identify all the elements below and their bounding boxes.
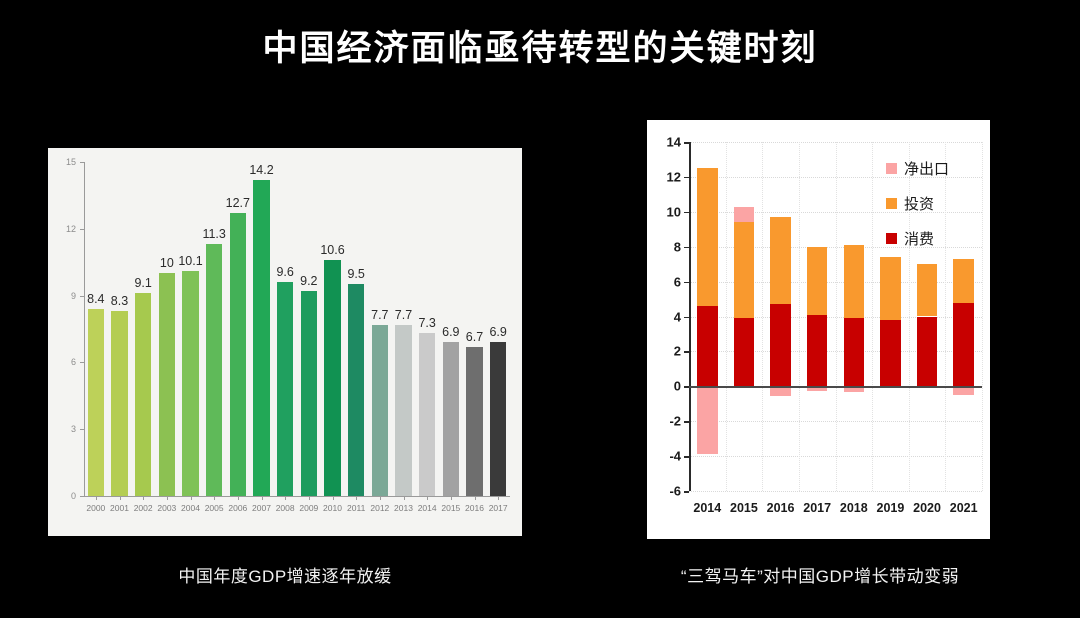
right-chart-segment-net-exports [734,207,755,222]
gdp-contribution-stacked-chart: -6-4-20246810121420142015201620172018201… [647,120,990,539]
left-chart-x-tick [356,496,357,500]
left-chart-bar-value-label: 8.3 [100,294,140,308]
left-chart-bar [206,244,222,496]
right-chart-gridline [689,491,982,492]
right-chart-caption: “三驾马车”对中国GDP增长带动变弱 [620,562,1020,587]
left-chart-x-tick [475,496,476,500]
left-chart-x-tick [427,496,428,500]
left-chart-x-tick [238,496,239,500]
left-chart-x-axis [84,496,510,497]
right-chart-legend-label: 消费 [904,228,934,249]
right-chart-segment-investment [697,168,718,306]
right-chart-panel: -6-4-20246810121420142015201620172018201… [647,120,990,539]
right-chart-y-tick [684,247,689,249]
left-chart-bar [159,273,175,496]
right-chart-y-tick [684,282,689,284]
left-chart-bar [253,180,269,496]
left-chart-y-tick [80,496,84,497]
left-chart-bar-value-label: 10.1 [171,254,211,268]
left-chart-x-tick [262,496,263,500]
left-chart-x-tick [120,496,121,500]
left-chart-bar [443,342,459,496]
right-chart-y-tick-label: -4 [655,449,681,464]
right-chart-vertical-gridline [726,142,727,491]
right-chart-y-tick [684,317,689,319]
slide-root: 中国经济面临亟待转型的关键时刻 036912158.420008.320019.… [0,0,1080,618]
right-chart-segment-investment [880,257,901,320]
right-chart-y-tick [684,212,689,214]
right-chart-legend-label: 净出口 [904,158,949,179]
left-chart-bar-value-label: 12.7 [218,196,258,210]
left-chart-bar [111,311,127,496]
left-chart-bar [135,293,151,496]
legend-swatch-icon [886,198,897,209]
right-chart-x-tick-label: 2021 [942,501,986,515]
right-chart-segment-consumption [734,318,755,386]
left-chart-x-tick [380,496,381,500]
left-chart-bar [419,333,435,496]
left-chart-y-tick [80,229,84,230]
right-chart-y-tick [684,142,689,144]
right-chart-segment-investment [807,247,828,315]
left-chart-y-tick-label: 3 [56,424,76,434]
right-chart-vertical-gridline [945,142,946,491]
right-chart-segment-consumption [697,306,718,386]
right-chart-segment-consumption [844,318,865,386]
right-chart-segment-consumption [917,317,938,387]
right-chart-y-tick [684,456,689,458]
left-chart-panel: 036912158.420008.320019.1200210200310.12… [48,148,522,536]
left-chart-y-tick [80,362,84,363]
right-chart-segment-net-exports [697,386,718,454]
right-chart-y-tick-label: -2 [655,414,681,429]
right-chart-segment-investment [734,222,755,318]
right-chart-legend-item[interactable]: 净出口 [886,158,949,179]
right-chart-segment-consumption [807,315,828,387]
right-chart-zero-line [689,386,982,388]
left-chart-bar-value-label: 10.6 [313,243,353,257]
left-chart-bar [395,325,411,496]
right-chart-segment-consumption [953,303,974,387]
right-chart-y-tick-label: 0 [655,379,681,394]
right-chart-y-tick-label: 14 [655,135,681,150]
right-chart-vertical-gridline [982,142,983,491]
right-chart-y-axis [689,142,691,491]
legend-swatch-icon [886,163,897,174]
left-chart-caption: 中国年度GDP增速逐年放缓 [48,562,522,587]
left-chart-y-tick [80,429,84,430]
right-chart-y-tick [684,177,689,179]
right-chart-segment-consumption [880,320,901,386]
left-chart-bar [372,325,388,496]
right-chart-segment-investment [770,217,791,304]
left-chart-bar-value-label: 9.1 [123,276,163,290]
left-chart-y-tick-label: 15 [56,157,76,167]
right-chart-y-tick [684,421,689,423]
right-chart-y-tick [684,351,689,353]
left-chart-y-tick-label: 12 [56,224,76,234]
left-chart-x-tick [451,496,452,500]
left-chart-bar [466,347,482,496]
left-chart-x-tick-label: 2017 [482,503,514,513]
right-chart-vertical-gridline [762,142,763,491]
right-chart-segment-consumption [770,304,791,386]
right-chart-y-tick-label: 4 [655,309,681,324]
left-chart-x-tick [333,496,334,500]
left-chart-y-tick-label: 0 [56,491,76,501]
right-chart-y-tick-label: 10 [655,204,681,219]
left-chart-bar [490,342,506,496]
left-chart-x-tick [214,496,215,500]
right-chart-segment-investment [953,259,974,303]
left-chart-bar-value-label: 9.2 [289,274,329,288]
left-chart-bar [324,260,340,496]
right-chart-vertical-gridline [799,142,800,491]
right-chart-segment-investment [917,264,938,316]
left-chart-bar [88,309,104,496]
page-title: 中国经济面临亟待转型的关键时刻 [0,26,1080,72]
left-chart-x-tick [498,496,499,500]
left-chart-y-axis [84,162,85,496]
left-chart-x-tick [285,496,286,500]
right-chart-y-tick [684,491,689,493]
left-chart-y-tick-label: 6 [56,357,76,367]
left-chart-x-tick [404,496,405,500]
left-chart-bar-value-label: 14.2 [242,163,282,177]
right-chart-legend-item[interactable]: 消费 [886,228,934,249]
left-chart-x-tick [96,496,97,500]
right-chart-vertical-gridline [872,142,873,491]
left-chart-x-tick [191,496,192,500]
right-chart-y-tick-label: 12 [655,169,681,184]
left-chart-bar [230,213,246,496]
right-chart-vertical-gridline [836,142,837,491]
left-chart-bar [301,291,317,496]
left-chart-x-tick [309,496,310,500]
right-chart-y-tick-label: -6 [655,484,681,499]
left-chart-bar [277,282,293,496]
left-chart-bar [182,271,198,496]
left-chart-bar-value-label: 9.5 [336,267,376,281]
right-chart-y-tick-label: 8 [655,239,681,254]
left-chart-bar-value-label: 6.9 [478,325,518,339]
right-chart-y-tick-label: 2 [655,344,681,359]
right-chart-y-tick-label: 6 [655,274,681,289]
gdp-growth-bar-chart: 036912158.420008.320019.1200210200310.12… [48,148,522,536]
right-chart-segment-investment [844,245,865,318]
left-chart-y-tick-label: 9 [56,291,76,301]
legend-swatch-icon [886,233,897,244]
right-chart-legend-item[interactable]: 投资 [886,193,934,214]
left-chart-x-tick [143,496,144,500]
left-chart-x-tick [167,496,168,500]
right-chart-legend-label: 投资 [904,193,934,214]
left-chart-bar-value-label: 11.3 [194,227,234,241]
left-chart-y-tick [80,162,84,163]
